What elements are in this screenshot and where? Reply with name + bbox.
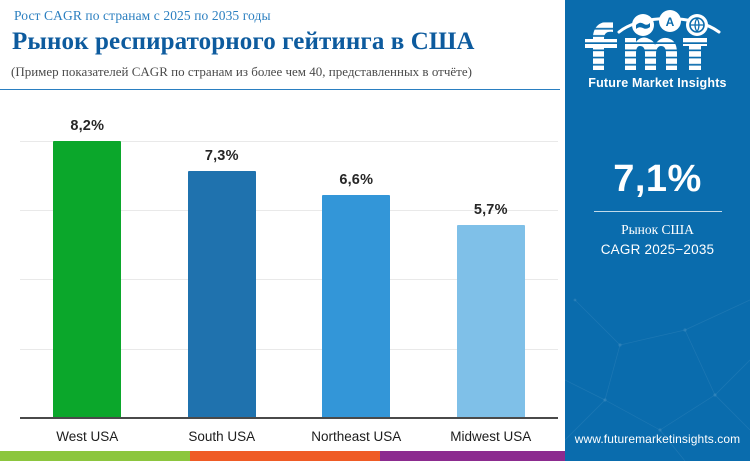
fmi-logo-mark: A <box>579 8 737 74</box>
bar-slot: 7,3% <box>155 100 289 418</box>
bar-value-label: 5,7% <box>474 202 508 218</box>
kicker-text: Рост CAGR по странам с 2025 по 2035 годы <box>14 8 271 24</box>
accent-segment-green <box>0 451 190 461</box>
cagr-divider <box>594 211 722 212</box>
accent-strip <box>0 451 565 461</box>
category-label: West USA <box>20 429 154 444</box>
bar-slot: 5,7% <box>424 100 558 418</box>
fmi-tagline: Future Market Insights <box>565 76 750 90</box>
fmi-logo: A Future Market Insights <box>565 8 750 90</box>
bar-west-usa[interactable] <box>53 141 121 418</box>
chart-pane: Рост CAGR по странам с 2025 по 2035 годы… <box>0 0 565 451</box>
bar-slot: 8,2% <box>20 100 154 418</box>
bar-midwest-usa[interactable] <box>457 225 525 418</box>
category-label: South USA <box>155 429 289 444</box>
bar-group: 8,2%7,3%6,6%5,7% <box>20 100 558 418</box>
bar-northeast-usa[interactable] <box>322 195 390 418</box>
brand-pane: A Future Market Insights 7,1% Рынок США … <box>565 0 750 461</box>
bar-south-usa[interactable] <box>188 171 256 418</box>
header-divider <box>0 89 560 90</box>
bar-slot: 6,6% <box>289 100 423 418</box>
infographic-root: Рост CAGR по странам с 2025 по 2035 годы… <box>0 0 750 461</box>
accent-segment-purple <box>380 451 565 461</box>
page-title: Рынок респираторного гейтинга в США <box>12 28 475 56</box>
plot-area: 8,2%7,3%6,6%5,7% <box>20 100 558 418</box>
bar-value-label: 7,3% <box>205 148 239 164</box>
category-label: Northeast USA <box>289 429 423 444</box>
x-axis-labels: West USASouth USANortheast USAMidwest US… <box>20 423 558 449</box>
category-label: Midwest USA <box>424 429 558 444</box>
bar-value-label: 8,2% <box>70 118 104 134</box>
website-url[interactable]: www.futuremarketinsights.com <box>565 432 750 446</box>
subtitle-text: (Пример показателей CAGR по странам из б… <box>11 64 472 80</box>
cagr-value: 7,1% <box>565 160 750 198</box>
cagr-caption-period: CAGR 2025−2035 <box>565 242 750 257</box>
cagr-caption-market: Рынок США <box>565 222 750 238</box>
svg-text:A: A <box>665 15 674 29</box>
accent-segment-orange <box>190 451 380 461</box>
cagr-highlight: 7,1% Рынок США CAGR 2025−2035 <box>565 160 750 257</box>
x-axis-line <box>20 417 558 419</box>
bar-value-label: 6,6% <box>339 172 373 188</box>
